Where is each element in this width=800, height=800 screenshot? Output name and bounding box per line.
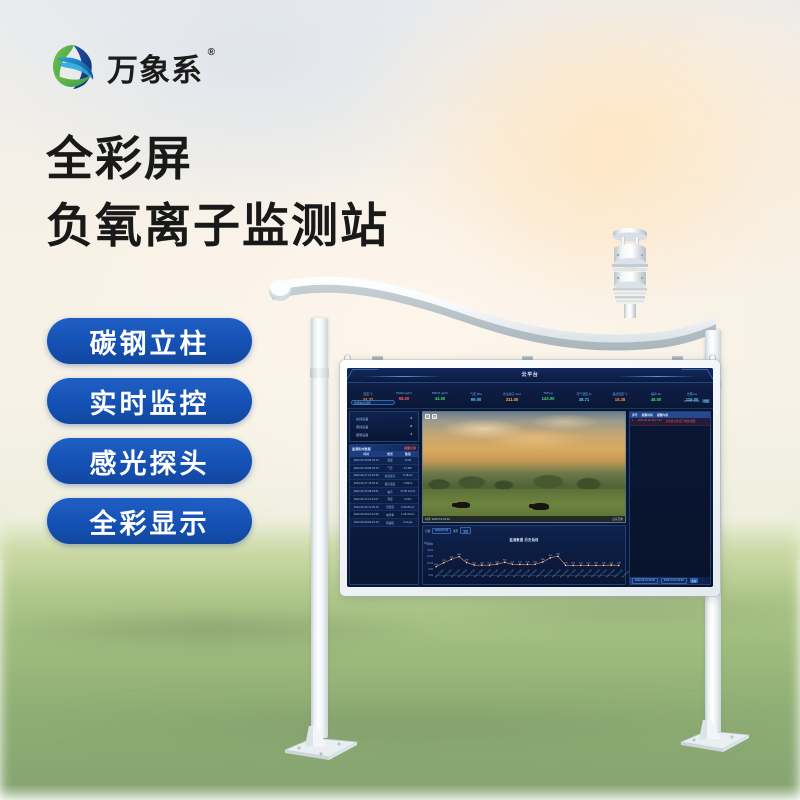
chart-point-label: 18.20	[503, 559, 507, 561]
chart-data-point[interactable]	[565, 564, 566, 566]
metric-value: 99.00	[458, 397, 494, 402]
feature-pill-label: 全彩显示	[90, 502, 210, 541]
chart-y-axis: 40.0032.0024.0016.008.000.00	[424, 544, 433, 578]
chart-data-point[interactable]	[534, 563, 535, 565]
chart-x-tick: 06-29 20:00	[606, 577, 607, 578]
chart-data-point[interactable]	[489, 564, 490, 566]
record-cell: 44.387	[398, 464, 418, 472]
chart-point-label: 22.40	[450, 556, 454, 558]
chart-data-point[interactable]	[458, 555, 459, 557]
table-row[interactable]: 2022-06-20 11:35:18光照度0.00150 µT	[350, 503, 418, 511]
metric-strip: 温度 ℃34.32PM10 ug/m³58.00PM2.5 ug/m³44.00…	[347, 383, 713, 409]
device-status-row: 报警设备1	[356, 432, 412, 437]
chart-y-tick: 0.00	[424, 575, 433, 577]
record-cell: 2022-06-27 16:40:38	[350, 472, 382, 480]
device-status-row: 在线设备1	[356, 416, 412, 421]
dashboard-title: 云平台	[347, 371, 713, 378]
record-cell: 2022-06-22 12:24:07	[350, 495, 382, 503]
status-label: 报警设备	[356, 432, 368, 437]
record-panel: 监测实时数据 报警记录 时间类型数值 2022-06-28 08:03:19温度…	[349, 444, 419, 585]
chart-x-tick: 06-29 14:00	[583, 577, 584, 578]
record-cell: 气压	[382, 464, 397, 472]
metric-label: 光照 lux	[675, 391, 708, 396]
chart-y-tick: 32.00	[424, 550, 433, 552]
chart-y-tick: 16.00	[424, 563, 433, 565]
alarm-empty-area	[630, 426, 710, 577]
alarm-cell: 负氧离子值 低于阈值 报警	[666, 419, 696, 423]
chart-point-label: 12.00	[434, 563, 438, 565]
record-cell: 0.06m	[398, 495, 418, 503]
feature-pill-label: 碳钢立柱	[90, 322, 210, 361]
metric-value: 48.00	[638, 397, 674, 402]
snapshot-icon[interactable]: ◎	[432, 414, 437, 419]
chart-data-point[interactable]	[474, 564, 475, 566]
status-count: 1	[410, 432, 412, 437]
dashboard-screen[interactable]: 云平台 监测站点选择 WXXB-1002A 在线 温度 ℃34.32PM10 u…	[347, 368, 713, 587]
globe-swoosh-logo	[48, 42, 98, 92]
ultrasonic-weather-sensor	[602, 222, 658, 318]
metric-value: 143.00	[530, 396, 566, 401]
dashboard-body: 在线设备1离线设备2报警设备1 监测实时数据 报警记录 时间类型数值 2022-…	[347, 409, 713, 587]
chart-x-tick: 06-29 18:00	[598, 577, 599, 578]
chart-x-tick: 06-29 16:00	[591, 577, 592, 578]
chart-plot-area: 单位(℃) 40.0032.0024.0016.008.000.00 12.00…	[423, 542, 625, 588]
chart-data-point[interactable]	[496, 563, 497, 565]
record-cell: 2022-06-08 09:10:16	[350, 519, 382, 527]
status-label: 在线设备	[356, 416, 368, 421]
record-cell: 2022-06-25 08:03:51	[350, 488, 382, 496]
chart-control-select[interactable]: 温度	[460, 527, 471, 534]
chart-point-label: 13.80	[594, 562, 598, 564]
chart-control-label: 日期	[425, 529, 430, 533]
metric-card-3: PM2.5 ug/m³44.00	[422, 385, 458, 407]
metric-value: 311.00	[494, 397, 530, 402]
record-cell: 0.00150 µT	[398, 503, 418, 511]
chart-point-label: 14.20	[609, 562, 613, 564]
metric-label: 温度 ℃	[351, 391, 384, 396]
record-table-body: 2022-06-28 08:03:19温度33.852022-06-28 08:…	[350, 457, 418, 527]
carbon-steel-post-left	[311, 318, 328, 738]
record-cell: 1.08ms	[398, 480, 418, 488]
metric-card-7: 空气湿度 %38.71	[566, 385, 602, 407]
chart-data-point[interactable]	[580, 564, 581, 566]
chart-x-tick: 06-28 20:00	[513, 577, 514, 578]
flange-base-plate-left	[283, 726, 359, 760]
chart-controls: 日期2022-07-03类型温度	[423, 526, 625, 535]
table-row[interactable]: 2022-06-25 08:03:51噪声37.85 10m/h	[350, 488, 418, 496]
video-controls: ⛶ ◎	[425, 414, 437, 419]
table-row[interactable]: 2022-06-08 09:10:16风速值0.4mg/L	[350, 519, 418, 527]
metric-label: 露点温度 ℃	[603, 391, 636, 396]
chart-x-tick: 06-28 02:00	[443, 577, 444, 578]
chart-point-label: 13.90	[579, 562, 583, 564]
dashboard-header: 云平台	[347, 368, 713, 383]
metric-label: 噪声 db	[639, 391, 672, 396]
chart-y-tick: 24.00	[424, 556, 433, 558]
record-table: 时间类型数值 2022-06-28 08:03:19温度33.852022-06…	[350, 451, 418, 527]
device-status-chip: 在线	[702, 399, 710, 403]
metric-card-4: 气压 kPa99.00	[458, 385, 494, 407]
chart-y-tick: 40.00	[424, 544, 433, 546]
video-info-bar: 时间: 2022/7/3 16:42 山东万象	[423, 516, 625, 522]
video-cow	[532, 503, 549, 510]
alarm-table-rows: 12022-06-22 09:17:33负氧离子值 低于阈值 报警	[630, 418, 710, 426]
metric-card-10: 光照 lux116.00	[674, 385, 710, 407]
chart-data-point[interactable]	[512, 563, 513, 565]
table-row[interactable]: 2022-06-22 12:24:07湿度0.06m	[350, 495, 418, 503]
chart-x-tick: 06-29 02:00	[536, 577, 537, 578]
record-cell: 2022-06-28 08:03:15	[350, 464, 382, 472]
chart-control-select[interactable]: 2022-07-03	[432, 528, 451, 534]
chart-point-label: 13.80	[571, 562, 575, 564]
history-chart-panel: 日期2022-07-03类型温度 监测数据 历史曲线 单位(℃) 40.0032…	[422, 525, 626, 585]
alarm-panel: 序号报警时间报警内容 12022-06-22 09:17:33负氧离子值 低于阈…	[629, 411, 711, 585]
feature-pill-label: 感光探头	[90, 442, 210, 481]
chart-data-point[interactable]	[443, 561, 444, 563]
chart-point-label: 15.30	[526, 561, 530, 563]
record-panel-title: 监测实时数据	[352, 446, 371, 451]
chart-y-tick: 8.00	[424, 569, 433, 571]
record-cell: 负氧离子	[382, 472, 397, 480]
chart-point-label: 26.30	[457, 553, 461, 555]
metric-value: 18.38	[602, 397, 638, 402]
chart-x-tick: 06-28 08:00	[466, 577, 467, 578]
chart-x-tick: 06-29 08:00	[560, 577, 561, 578]
chart-point-label: 17.50	[442, 559, 446, 561]
record-cell: 0.38mm	[398, 472, 418, 480]
video-watermark: 山东万象	[612, 517, 623, 521]
chart-data-point[interactable]	[504, 561, 505, 563]
device-status-rows: 在线设备1离线设备2报警设备1	[350, 412, 418, 441]
alarm-date-picker[interactable]: 2022-06-01 00:00	[632, 578, 658, 584]
brand-lockup: 万象系®	[48, 42, 203, 92]
chart-x-tick: 06-28 06:00	[458, 577, 459, 578]
chart-data-point[interactable]	[603, 564, 604, 566]
chart-x-tick: 06-28 14:00	[489, 577, 490, 578]
chart-data-point[interactable]	[618, 564, 619, 566]
record-cell: 风速值	[382, 519, 397, 527]
metric-label: PM10 ug/m³	[387, 391, 420, 395]
chart-point-label: 15.20	[518, 561, 522, 563]
table-row[interactable]: 2022-06-08 10:12:56电导率1.05mS/cm	[350, 511, 418, 519]
alarm-cell: 2022-06-22 09:17:33	[637, 419, 661, 423]
chart-data-point[interactable]	[542, 561, 543, 563]
flange-base-plate-right	[679, 720, 751, 752]
video-cow	[455, 502, 470, 508]
chart-point-label: 15.40	[510, 561, 514, 563]
record-cell: 37.85 10m/h	[398, 488, 418, 496]
record-cell: 噪声	[382, 488, 397, 496]
feature-pill-label: 实时监控	[90, 382, 210, 421]
chart-data-point[interactable]	[519, 563, 520, 565]
record-cell: 光照度	[382, 503, 397, 511]
table-row[interactable]: 2022-06-27 15:52:11露点温度1.08ms	[350, 480, 418, 488]
record-cell: 电导率	[382, 511, 397, 519]
chart-data-point[interactable]	[550, 556, 551, 558]
metric-label: 空气湿度 %	[567, 391, 600, 396]
chart-data-point[interactable]	[557, 555, 558, 557]
metric-value: 44.00	[422, 396, 458, 401]
chart-x-tick: 06-29 06:00	[552, 577, 553, 578]
chart-x-tick: 06-28 04:00	[451, 577, 452, 578]
feature-pill-list: 碳钢立柱实时监控感光探头全彩显示	[47, 318, 252, 544]
metric-label: 气压 kPa	[459, 391, 492, 396]
right-column: 序号报警时间报警内容 12022-06-22 09:17:33负氧离子值 低于阈…	[627, 409, 713, 587]
feature-pill-2[interactable]: 实时监控	[47, 378, 252, 424]
status-label: 离线设备	[356, 424, 368, 429]
alarm-query-bar: 2022-06-01 00:002022-07-03 23:59查询	[630, 577, 710, 584]
table-row[interactable]: 2022-06-28 08:03:19温度33.85	[350, 457, 418, 464]
record-cell: 露点温度	[382, 480, 397, 488]
brand-name: 万象系®	[107, 45, 203, 90]
metric-label: 负氧离子 /cm³	[495, 391, 528, 396]
chart-point-label: 24.50	[548, 554, 552, 556]
chart-x-tick: 06-29 04:00	[544, 577, 545, 578]
chart-x-tick: 06-28 00:00	[435, 577, 436, 578]
chart-point-label: 13.90	[564, 562, 568, 564]
chart-point-label: 13.90	[602, 562, 606, 564]
chart-data-point[interactable]	[588, 564, 589, 566]
chart-data-point[interactable]	[611, 564, 612, 566]
chart-x-tick: 06-29 22:00	[614, 577, 615, 578]
chart-x-axis: 06-28 00:0006-28 02:0006-28 04:0006-28 0…	[433, 577, 622, 579]
record-cell: 2022-06-28 08:03:19	[350, 457, 382, 464]
metric-card-5: 负氧离子 /cm³311.00	[494, 385, 530, 407]
chart-x-tick: 06-29 00:00	[528, 577, 529, 578]
video-sky	[423, 412, 625, 469]
fullscreen-icon[interactable]: ⛶	[425, 414, 430, 419]
chart-data-point[interactable]	[595, 564, 596, 566]
chart-point-label: 26.80	[556, 553, 560, 555]
chart-point-label: 18.60	[541, 559, 545, 561]
chart-x-tick: 06-30 00:00	[622, 577, 623, 578]
alarm-column-header: 报警时间	[642, 413, 653, 417]
device-status-row: 离线设备2	[356, 424, 412, 429]
metric-value: 38.71	[566, 397, 602, 402]
device-id-label: WXXB-1002A	[684, 400, 700, 403]
record-cell: 1.05mS/cm	[398, 511, 418, 519]
chart-data-point[interactable]	[466, 561, 467, 563]
chart-point-label: 13.80	[617, 562, 621, 564]
chart-x-tick: 06-28 18:00	[505, 577, 506, 578]
chart-point-label: 17.80	[465, 559, 469, 561]
chart-data-point[interactable]	[435, 565, 436, 567]
headline-line-2: 负氧离子监测站	[46, 193, 389, 260]
record-cell: 2022-06-27 15:52:11	[350, 480, 382, 488]
chart-x-tick: 06-28 16:00	[497, 577, 498, 578]
metric-label: TSP µg	[531, 391, 564, 395]
chart-x-tick: 06-28 22:00	[521, 577, 522, 578]
metric-card-6: TSP µg143.00	[530, 385, 566, 407]
feature-pill-1[interactable]: 碳钢立柱	[47, 318, 252, 364]
station-selector[interactable]: 监测站点选择	[351, 400, 395, 405]
record-cell: 2022-06-20 11:35:18	[350, 503, 382, 511]
chart-data-point[interactable]	[527, 563, 528, 565]
chart-data-point[interactable]	[572, 564, 573, 566]
alarm-column-header: 报警内容	[657, 413, 668, 417]
alarm-date-picker[interactable]: 2022-07-03 23:59	[661, 578, 687, 584]
table-row[interactable]: 2022-06-27 16:40:38负氧离子0.38mm	[350, 472, 418, 480]
feature-pill-3[interactable]: 感光探头	[47, 438, 252, 484]
display-screen-frame: 云平台 监测站点选择 WXXB-1002A 在线 温度 ℃34.32PM10 u…	[340, 360, 720, 596]
record-cell: 33.85	[398, 457, 418, 464]
record-cell: 2022-06-08 10:12:56	[350, 511, 382, 519]
left-column: 在线设备1离线设备2报警设备1 监测实时数据 报警记录 时间类型数值 2022-…	[347, 409, 421, 587]
device-id-area: WXXB-1002A 在线	[684, 399, 710, 403]
chart-point-label: 14.10	[488, 562, 492, 564]
record-cell: 湿度	[382, 495, 397, 503]
video-timestamp: 时间: 2022/7/3 16:42	[425, 517, 450, 521]
alarm-query-button[interactable]: 查询	[690, 578, 699, 583]
registered-mark-icon: ®	[208, 47, 216, 58]
metric-label: PM2.5 ug/m³	[423, 391, 456, 395]
chart-point-label: 15.40	[533, 561, 537, 563]
table-row[interactable]: 2022-06-28 08:03:15气压44.387	[350, 464, 418, 472]
chart-control-label: 类型	[453, 529, 458, 533]
metric-card-9: 噪声 db48.00	[638, 385, 674, 407]
chart-x-tick: 06-28 12:00	[482, 577, 483, 578]
post-joint-left	[310, 368, 329, 378]
record-cell: 0.4mg/L	[398, 519, 418, 527]
chart-data-point[interactable]	[481, 564, 482, 566]
chart-x-tick: 06-28 10:00	[474, 577, 475, 578]
feature-pill-4[interactable]: 全彩显示	[47, 498, 252, 544]
chart-x-tick: 06-29 12:00	[575, 577, 576, 578]
record-cell: 温度	[382, 457, 397, 464]
chart-data-point[interactable]	[451, 558, 452, 560]
headline-block: 全彩屏 负氧离子监测站	[46, 126, 389, 259]
live-video-panel[interactable]: ⛶ ◎ 时间: 2022/7/3 16:42 山东万象	[422, 411, 626, 523]
device-status-panel: 在线设备1离线设备2报警设备1	[349, 411, 419, 442]
alarm-column-header: 序号	[632, 413, 638, 417]
status-count: 1	[410, 416, 412, 421]
metric-card-8: 露点温度 ℃18.38	[602, 385, 638, 407]
record-alarm-tag[interactable]: 报警记录	[404, 446, 416, 450]
chart-point-label: 14.20	[472, 562, 476, 564]
status-count: 2	[410, 424, 412, 429]
middle-column: ⛶ ◎ 时间: 2022/7/3 16:42 山东万象 日期2022-0	[421, 409, 627, 587]
chart-x-tick: 06-29 10:00	[567, 577, 568, 578]
alarm-row[interactable]: 12022-06-22 09:17:33负氧离子值 低于阈值 报警	[630, 418, 710, 426]
alarm-cell: 1	[632, 419, 633, 423]
chart-point-label: 13.90	[587, 562, 591, 564]
headline-line-1: 全彩屏	[46, 126, 389, 193]
chart-point-label: 15.60	[495, 561, 499, 563]
chart-point-label: 14.00	[480, 562, 484, 564]
